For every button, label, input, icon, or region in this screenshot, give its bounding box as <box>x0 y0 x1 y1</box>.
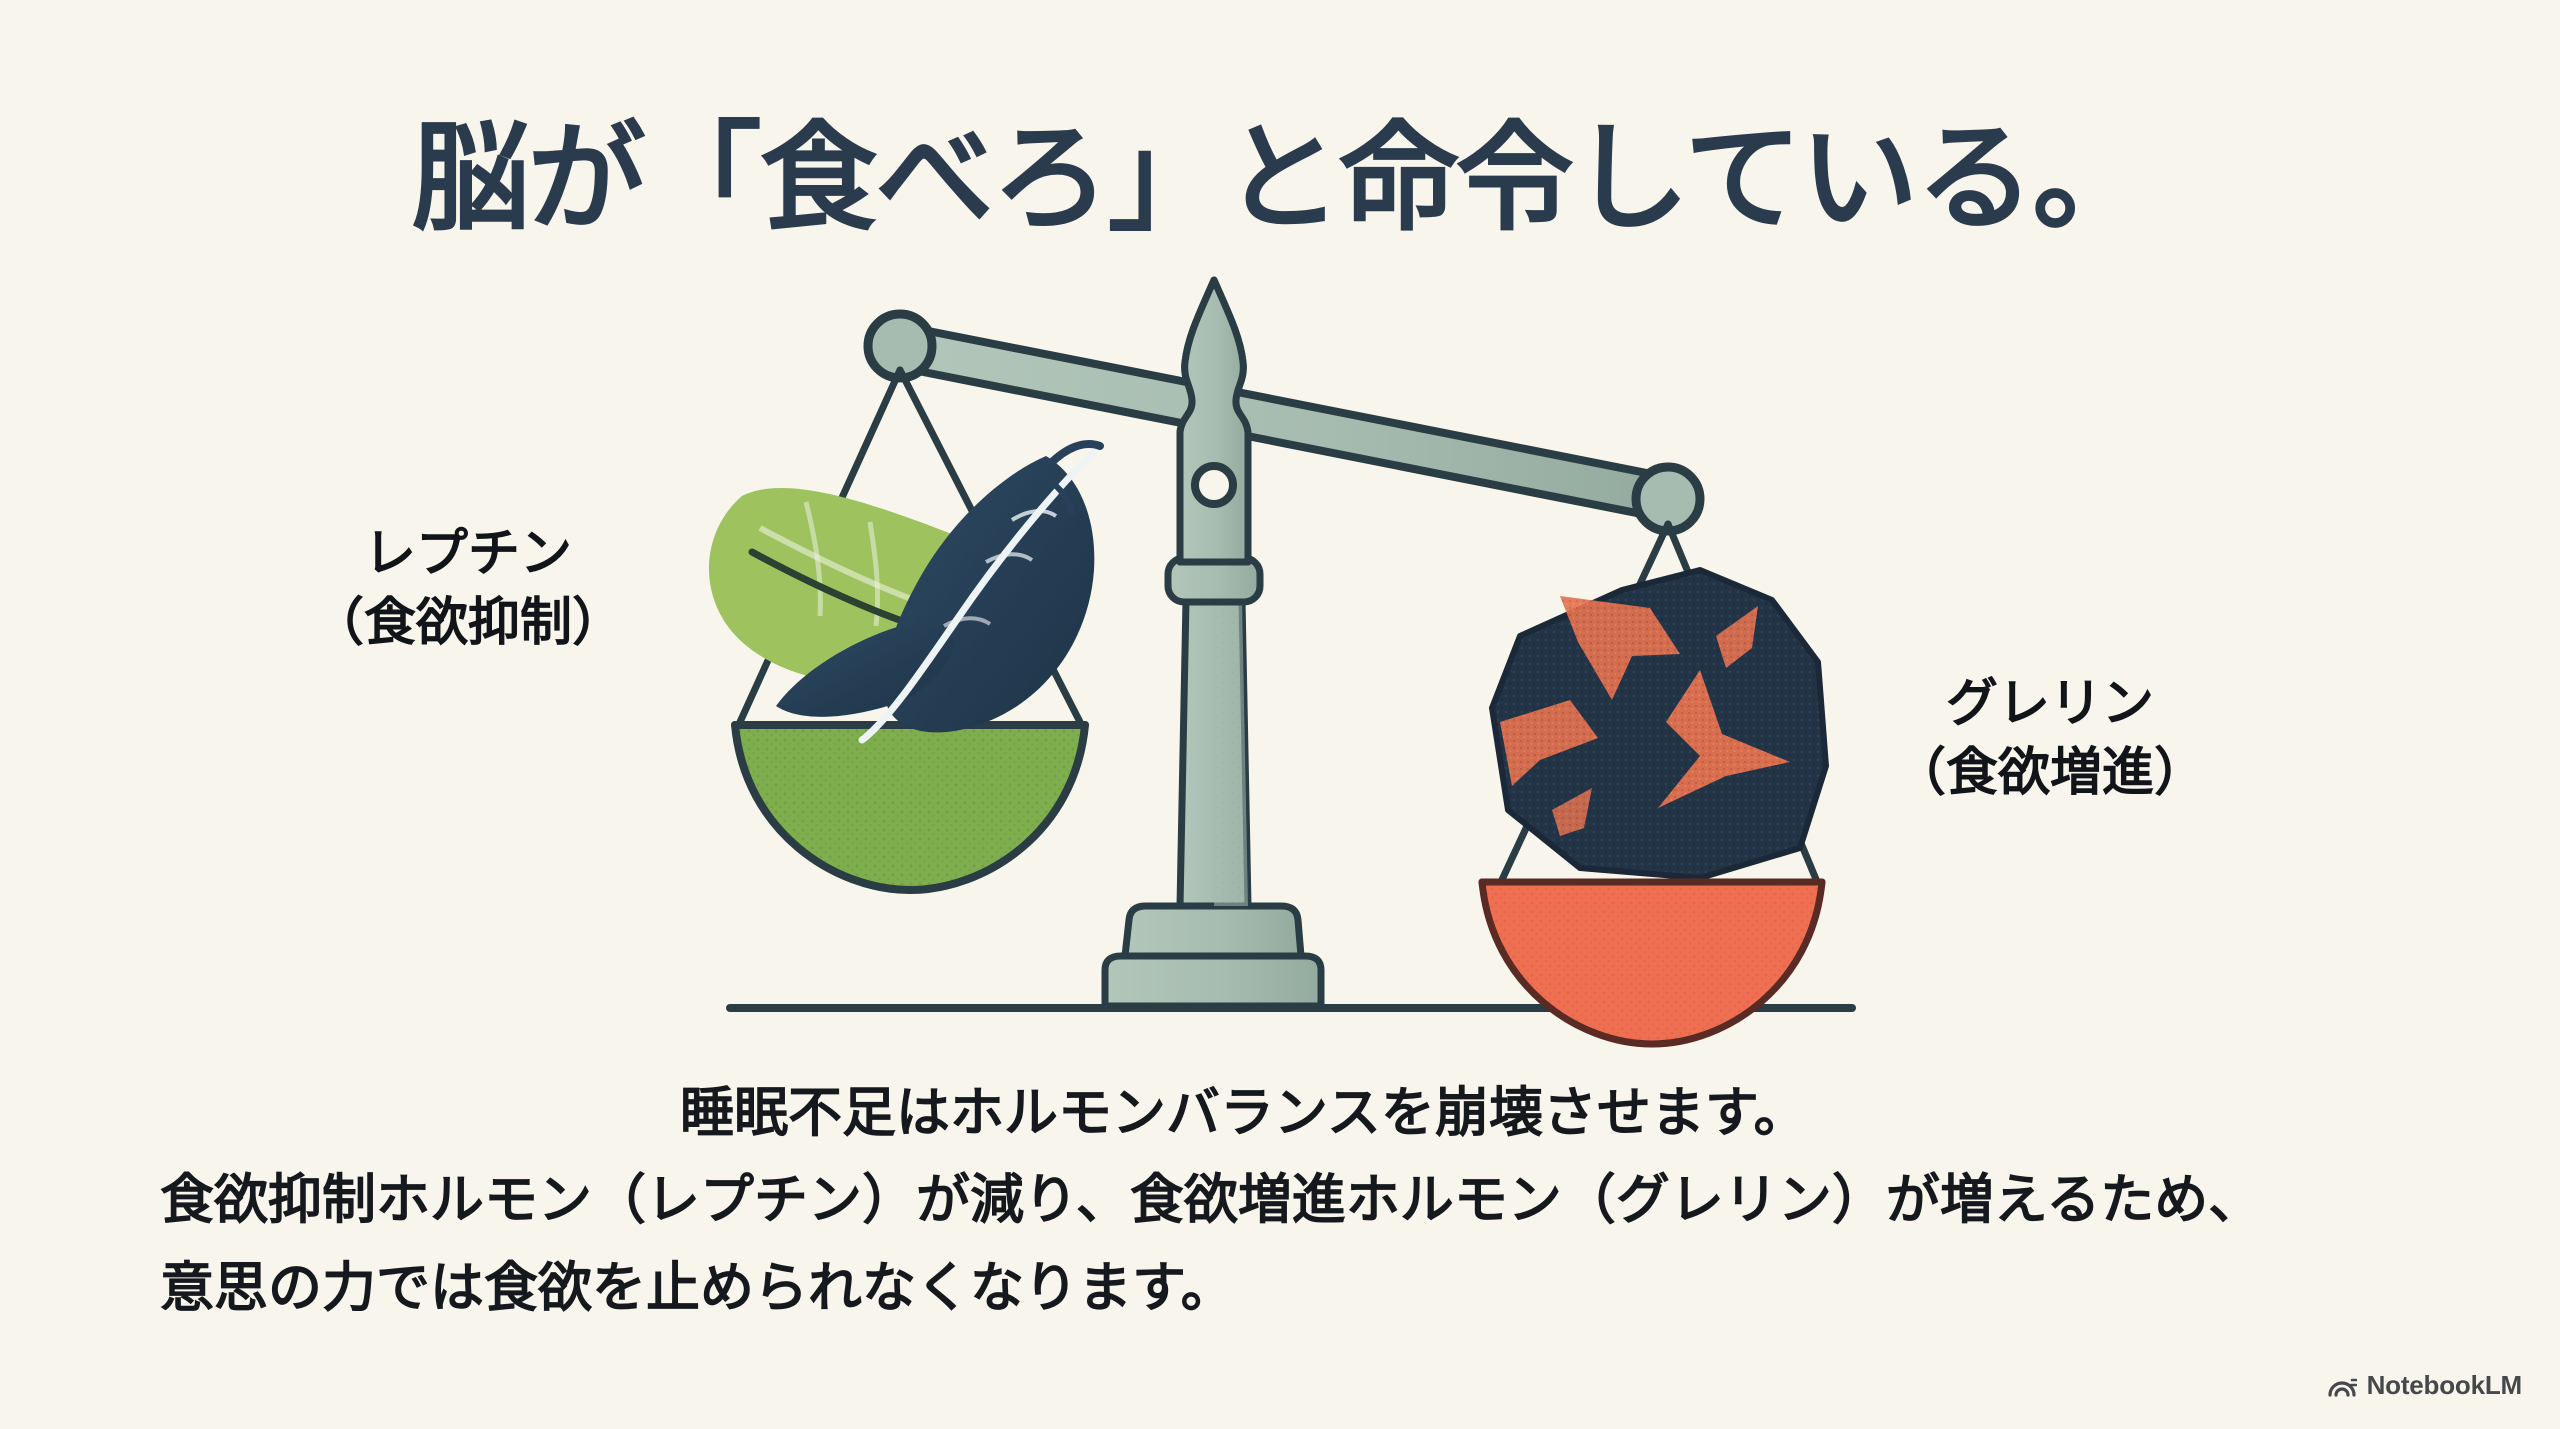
left-pan-group <box>709 370 1100 890</box>
body-line-2: 食欲抑制ホルモン（レプチン）が減り、食欲増進ホルモン（グレリン）が増えるため、 <box>160 1157 2420 1244</box>
label-leptin-name: レプチン <box>364 525 572 583</box>
label-ghrelin: グレリン （食欲増進） <box>1840 670 2260 807</box>
notebooklm-spiral-icon <box>2327 1374 2357 1398</box>
page-title: 脳が「食べろ」と命令している。 <box>0 118 2560 242</box>
notebooklm-watermark: NotebookLM <box>2327 1370 2522 1401</box>
label-ghrelin-name: グレリン <box>1946 675 2154 733</box>
body-text: 睡眠不足はホルモンバランスを崩壊させます。 食欲抑制ホルモン（レプチン）が減り、… <box>160 1070 2420 1332</box>
label-leptin: レプチン （食欲抑制） <box>258 520 678 657</box>
rock-icon <box>1492 570 1826 878</box>
right-pan-bowl <box>1482 882 1822 1044</box>
notebooklm-label: NotebookLM <box>2367 1370 2522 1401</box>
label-leptin-detail: （食欲抑制） <box>258 589 678 658</box>
right-pan-group <box>1482 524 1826 1044</box>
balance-scale-illustration <box>0 270 2560 1060</box>
label-ghrelin-detail: （食欲増進） <box>1840 739 2260 808</box>
slide-canvas: 脳が「食べろ」と命令している。 <box>0 0 2560 1429</box>
scale-base <box>1105 558 1321 1006</box>
left-pan-bowl <box>735 725 1085 890</box>
body-line-3: 意思の力では食欲を止められなくなります。 <box>160 1245 2420 1332</box>
body-line-1: 睡眠不足はホルモンバランスを崩壊させます。 <box>160 1070 2420 1157</box>
